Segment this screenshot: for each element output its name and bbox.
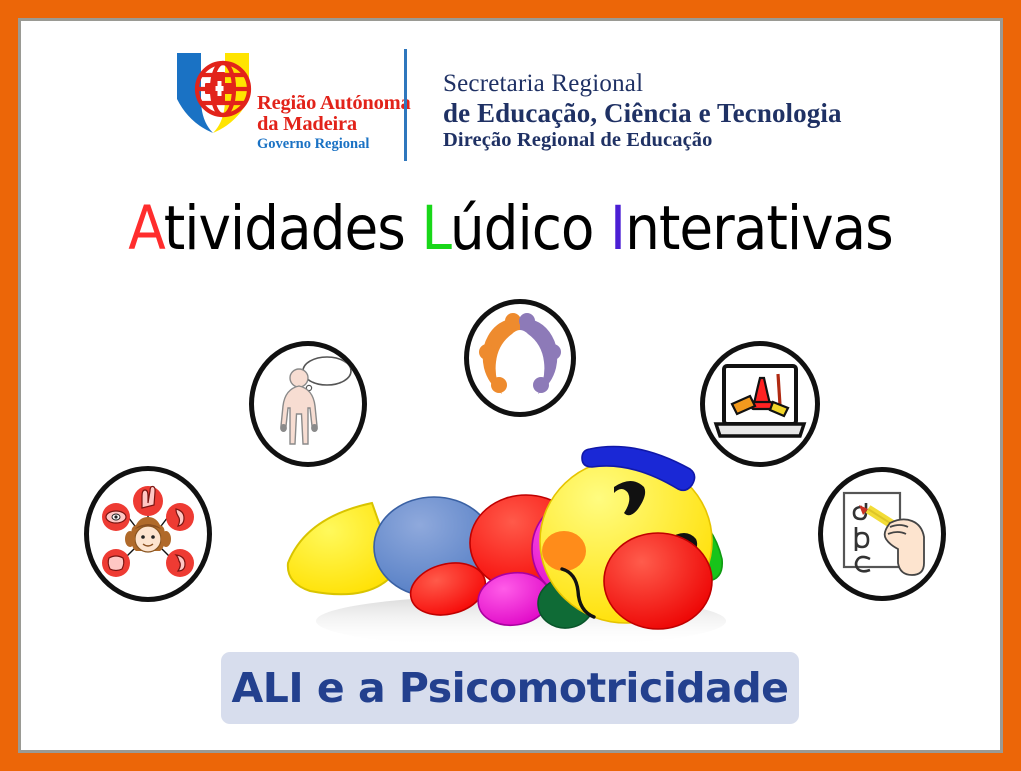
title-cap-l: L bbox=[421, 193, 450, 264]
senses-face-icon bbox=[92, 475, 204, 593]
secretariat-line-2: de Educação, Ciência e Tecnologia bbox=[443, 98, 842, 129]
logo-line-2: da Madeira bbox=[257, 114, 411, 135]
madeira-government-logo: Região Autónoma da Madeira Governo Regio… bbox=[171, 49, 386, 152]
slide-canvas: Região Autónoma da Madeira Governo Regio… bbox=[21, 21, 1000, 750]
secretariat-block: Secretaria Regional de Educação, Ciência… bbox=[443, 69, 842, 153]
people-circle-icon bbox=[472, 308, 568, 408]
caterpillar-toy bbox=[276, 421, 746, 671]
secretariat-line-3: Direção Regional de Educação bbox=[443, 129, 842, 153]
title-word-3: nterativas bbox=[625, 193, 893, 264]
title-cap-a: A bbox=[128, 193, 163, 264]
bottom-banner: ALI e a Psicomotricidade bbox=[221, 652, 799, 724]
banner-title: ALI e a Psicomotricidade bbox=[232, 664, 789, 712]
hand-writing-abc-icon bbox=[828, 479, 936, 589]
bubble-social-interaction[interactable] bbox=[464, 299, 576, 417]
slide-frame: Região Autónoma da Madeira Governo Regio… bbox=[0, 0, 1021, 771]
cheek bbox=[542, 531, 586, 571]
logo-line-3: Governo Regional bbox=[257, 137, 411, 152]
nose bbox=[604, 533, 712, 629]
title-word-1: tividades bbox=[164, 193, 405, 264]
secretariat-line-1: Secretaria Regional bbox=[443, 69, 842, 98]
logo-line-1: Região Autónoma bbox=[257, 93, 411, 114]
page-title: Atividades Lúdico Interativas bbox=[21, 193, 1000, 264]
bubble-five-senses[interactable] bbox=[84, 466, 212, 602]
header: Região Autónoma da Madeira Governo Regio… bbox=[171, 39, 842, 161]
header-divider bbox=[404, 49, 407, 161]
bubble-writing[interactable] bbox=[818, 467, 946, 601]
title-word-2: údico bbox=[450, 193, 594, 264]
madeira-coat-of-arms-icon bbox=[171, 49, 255, 146]
title-cap-i: I bbox=[610, 193, 625, 264]
logo-wordmark: Região Autónoma da Madeira Governo Regio… bbox=[257, 93, 411, 152]
